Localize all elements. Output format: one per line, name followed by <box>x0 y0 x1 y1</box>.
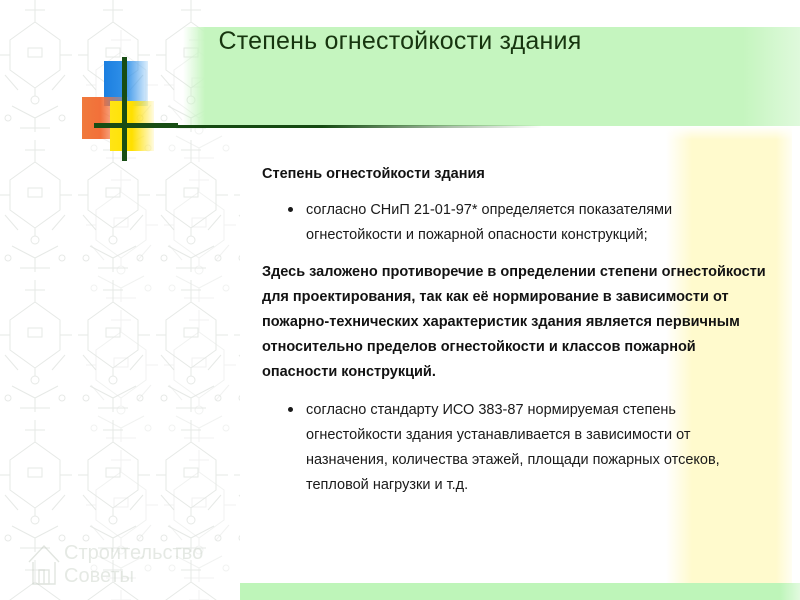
emphasis-paragraph: Здесь заложено противоречие в определени… <box>262 260 766 385</box>
list-item-text: согласно стандарту ИСО 383-87 нормируема… <box>306 402 720 493</box>
list-item: согласно стандарту ИСО 383-87 нормируема… <box>262 398 766 498</box>
corner-squares-cross-logo <box>82 57 172 161</box>
slide-body: Степень огнестойкости здания согласно СН… <box>262 164 766 510</box>
bullet-dot-icon <box>288 207 293 212</box>
list-item-text: согласно СНиП 21-01-97* определяется пок… <box>306 202 672 243</box>
horizontal-green-bar-icon <box>94 123 178 128</box>
page-title: Степень огнестойкости здания <box>0 27 800 56</box>
body-lead-heading: Степень огнестойкости здания <box>262 164 766 184</box>
bullet-dot-icon <box>288 407 293 412</box>
bottom-accent-strip <box>240 583 800 600</box>
vertical-green-bar-icon <box>122 57 127 161</box>
slide-canvas: Степень огнестойкости здания Степень огн… <box>0 0 800 600</box>
list-item: согласно СНиП 21-01-97* определяется пок… <box>262 198 766 248</box>
